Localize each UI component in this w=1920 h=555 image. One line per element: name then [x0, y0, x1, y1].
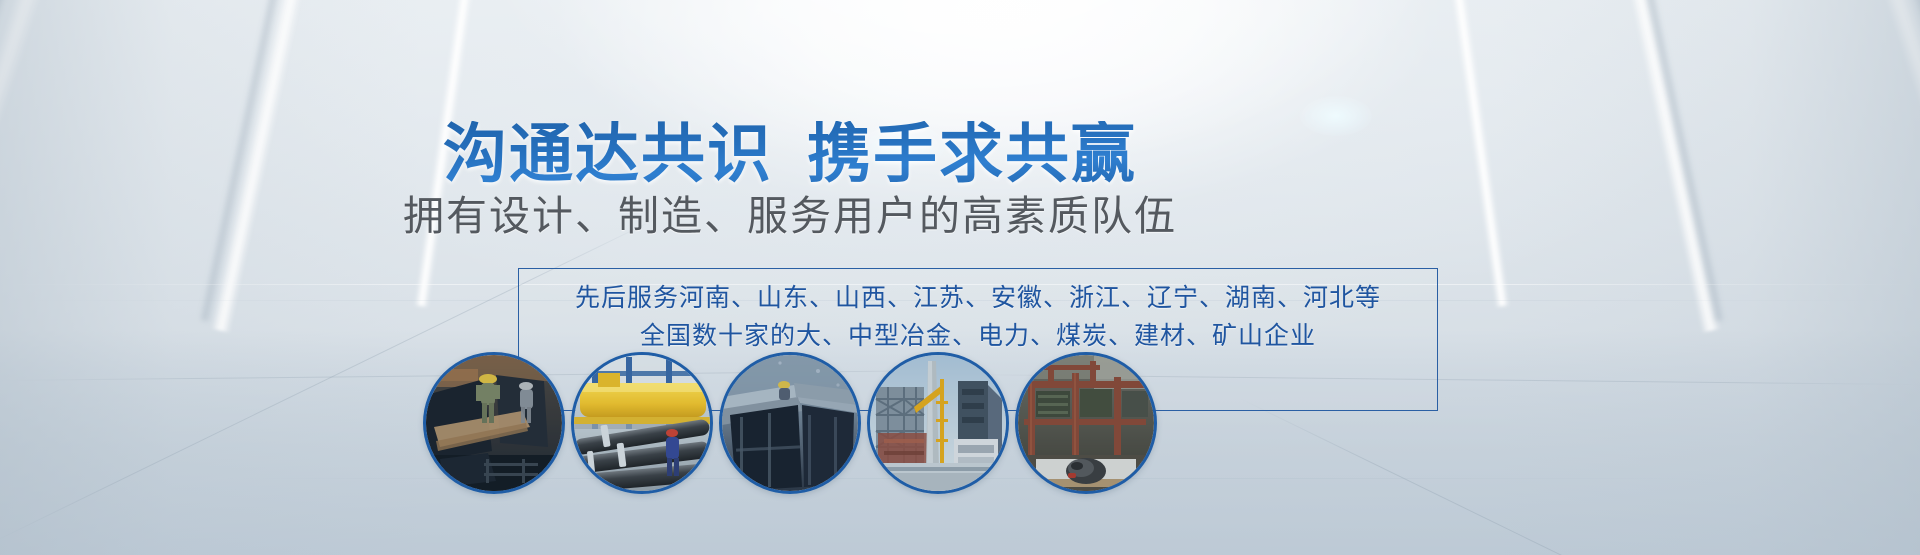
photo-image	[574, 355, 710, 491]
photo-image	[870, 355, 1006, 491]
banner-subtitle: 拥有设计、制造、服务用户的高素质队伍	[0, 192, 1580, 240]
headline-part-2: 携手求共赢	[807, 118, 1137, 190]
service-coverage-line-2: 全国数十家的大、中型冶金、电力、煤炭、建材、矿山企业	[519, 317, 1437, 355]
photo-image	[426, 355, 562, 491]
metal-duct-structure-photo[interactable]	[719, 352, 861, 494]
service-coverage-line-1: 先后服务河南、山东、山西、江苏、安徽、浙江、辽宁、湖南、河北等	[519, 279, 1437, 317]
service-coverage-text: 先后服务河南、山东、山西、江苏、安徽、浙江、辽宁、湖南、河北等 全国数十家的大、…	[519, 279, 1437, 355]
photo-image	[722, 355, 858, 491]
yellow-industrial-equipment-photo[interactable]	[571, 352, 713, 494]
headline-part-1: 沟通达共识	[443, 118, 773, 190]
banner-headline: 沟通达共识携手求共赢	[0, 121, 1580, 188]
photo-image	[1018, 355, 1154, 491]
steel-plate-installation-photo[interactable]	[423, 352, 565, 494]
promo-banner: 沟通达共识携手求共赢 拥有设计、制造、服务用户的高素质队伍 先后服务河南、山东、…	[0, 0, 1920, 555]
factory-interior-frame-photo[interactable]	[1015, 352, 1157, 494]
power-plant-construction-photo[interactable]	[867, 352, 1009, 494]
project-photo-row	[0, 352, 1580, 494]
banner-content: 沟通达共识携手求共赢 拥有设计、制造、服务用户的高素质队伍 先后服务河南、山东、…	[0, 0, 1920, 555]
